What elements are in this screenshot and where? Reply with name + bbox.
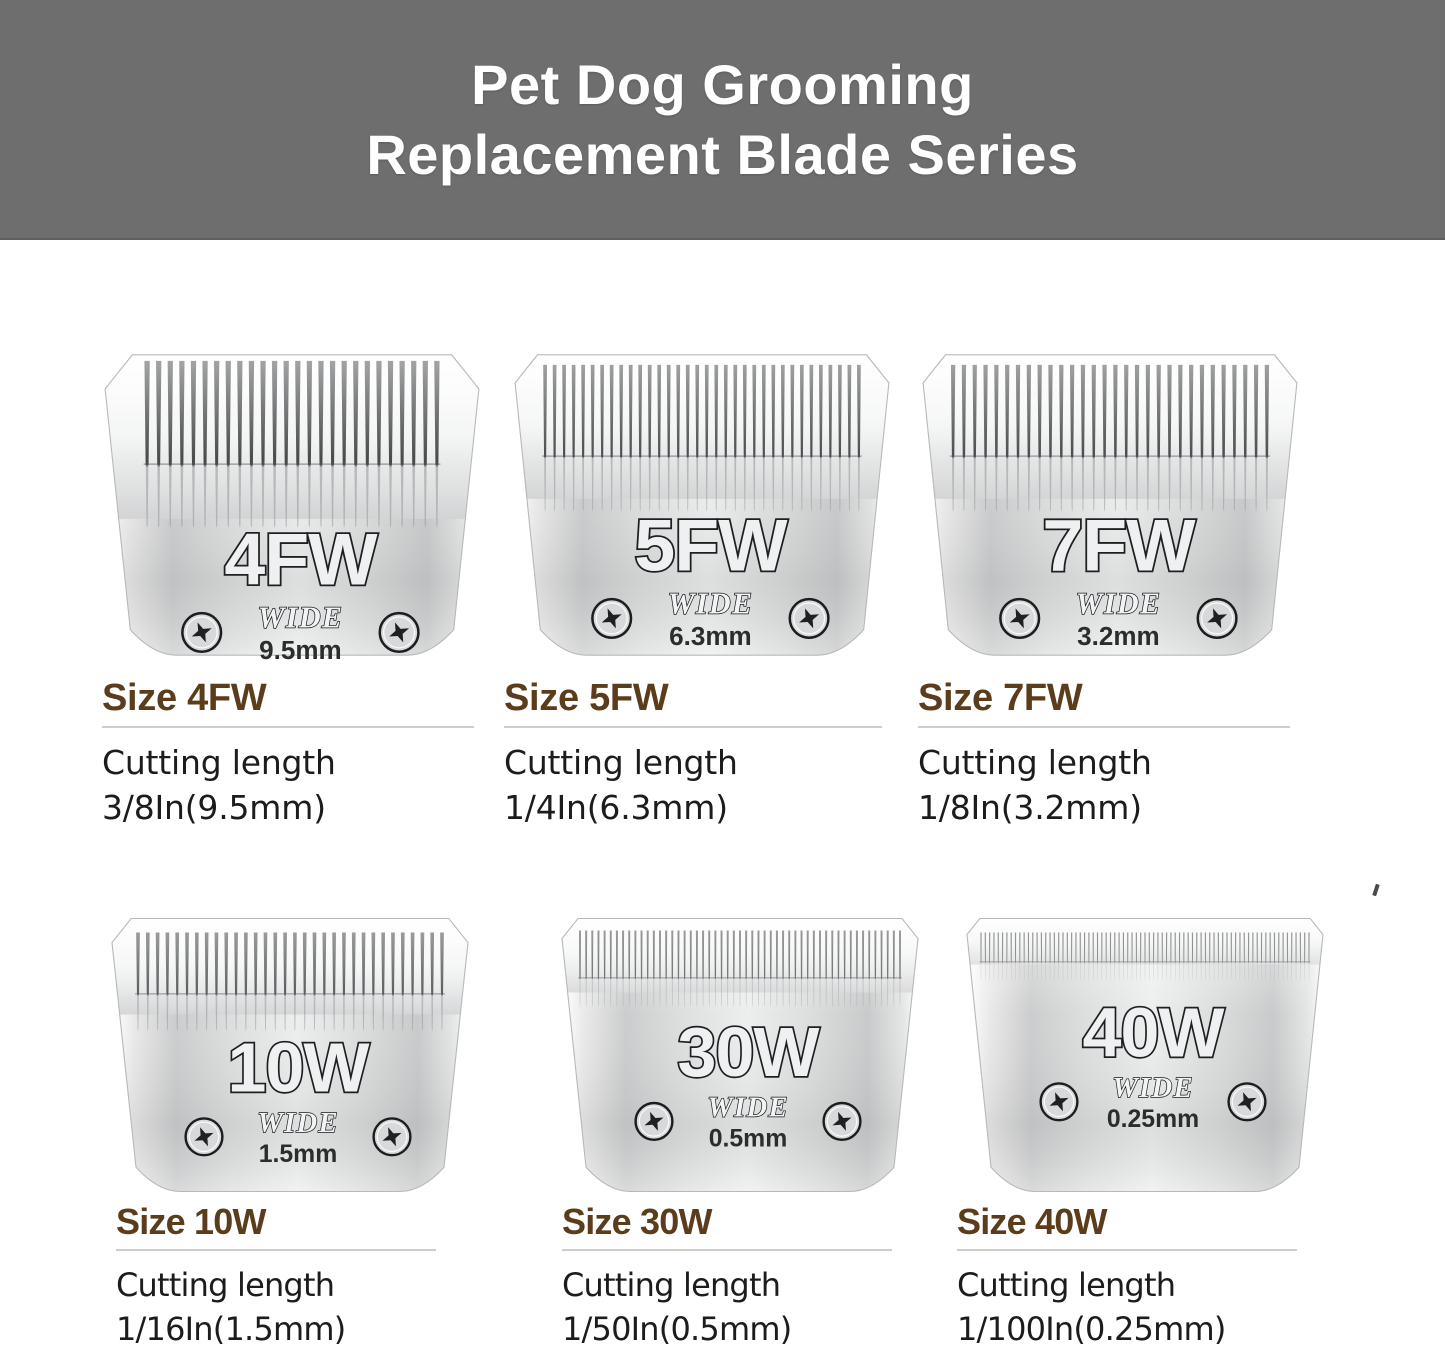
screw-icon [1041, 1083, 1078, 1120]
spec-divider [957, 1249, 1297, 1251]
blade-image-4fw: 4FWWIDE9.5mm [82, 340, 502, 670]
engraved-mm-text: 6.3mm [669, 621, 751, 651]
screw-icon [1198, 599, 1237, 638]
blade-card-10w: 10WWIDE1.5mm Size 10W Cutting length 1/1… [90, 905, 510, 1205]
blade-spec-line-1: Cutting length [918, 740, 1290, 785]
blade-spec-5fw: Size 5FW Cutting length 1/4In(6.3mm) [504, 676, 882, 830]
engraved-size-text: 30W [678, 1013, 820, 1091]
blade-card-30w: 30WWIDE0.5mm Size 30W Cutting length 1/5… [540, 905, 960, 1205]
engraved-wide-text: WIDE [707, 1092, 789, 1124]
blade-spec-title: Size 40W [957, 1201, 1297, 1243]
screw-icon [186, 1118, 223, 1155]
screw-icon [1000, 599, 1039, 638]
blade-spec-title: Size 5FW [504, 676, 882, 720]
blade-card-40w: 40WWIDE0.25mm Size 40W Cutting length 1/… [945, 905, 1365, 1205]
engraved-size-text: 5FW [634, 504, 788, 587]
engraved-size-text: 7FW [1042, 504, 1196, 587]
blade-spec-title: Size 30W [562, 1201, 892, 1243]
spec-divider [918, 726, 1290, 728]
blade-spec-10w: Size 10W Cutting length 1/16In(1.5mm) [116, 1201, 436, 1351]
header-banner: Pet Dog Grooming Replacement Blade Serie… [0, 0, 1445, 240]
blade-spec-line-2: 3/8In(9.5mm) [102, 785, 474, 830]
blade-spec-line-1: Cutting length [504, 740, 882, 785]
stray-artifact-mark [1372, 884, 1380, 897]
spec-divider [504, 726, 882, 728]
blade-spec-title: Size 4FW [102, 676, 474, 720]
blade-svg-4fw: 4FWWIDE9.5mm [82, 340, 502, 670]
engraved-wide-text: WIDE [1076, 586, 1161, 620]
spec-divider [102, 726, 474, 728]
blade-spec-title: Size 10W [116, 1201, 436, 1243]
page-title-line-1: Pet Dog Grooming [471, 50, 974, 120]
spec-divider [116, 1249, 436, 1251]
blade-spec-40w: Size 40W Cutting length 1/100In(0.25mm) [957, 1201, 1297, 1351]
engraved-wide-text: WIDE [668, 586, 753, 620]
blade-card-4fw: 4FWWIDE9.5mm Size 4FW Cutting length 3/8… [82, 340, 502, 670]
engraved-size-text: 10W [228, 1028, 370, 1106]
screw-icon [380, 613, 419, 652]
blade-image-30w: 30WWIDE0.5mm [540, 905, 960, 1205]
blade-spec-line-2: 1/100In(0.25mm) [957, 1307, 1297, 1351]
screw-icon [1229, 1083, 1266, 1120]
engraved-wide-text: WIDE [258, 600, 343, 634]
blade-spec-line-1: Cutting length [116, 1263, 436, 1307]
engraved-size-text: 40W [1083, 993, 1225, 1071]
blade-spec-4fw: Size 4FW Cutting length 3/8In(9.5mm) [102, 676, 474, 830]
engraved-wide-text: WIDE [1112, 1072, 1194, 1104]
screw-icon [374, 1118, 411, 1155]
engraved-size-text: 4FW [224, 518, 378, 601]
blade-svg-30w: 30WWIDE0.5mm [540, 905, 940, 1205]
engraved-wide-text: WIDE [257, 1107, 339, 1139]
blade-svg-10w: 10WWIDE1.5mm [90, 905, 490, 1205]
page-title-line-2: Replacement Blade Series [366, 120, 1078, 190]
blade-svg-7fw: 7FWWIDE3.2mm [900, 340, 1320, 670]
blade-spec-line-2: 1/50In(0.5mm) [562, 1307, 892, 1351]
spec-divider [562, 1249, 892, 1251]
screw-icon [824, 1103, 861, 1140]
screw-icon [790, 599, 829, 638]
blade-image-40w: 40WWIDE0.25mm [945, 905, 1365, 1205]
blade-spec-line-1: Cutting length [957, 1263, 1297, 1307]
engraved-mm-text: 0.5mm [709, 1126, 788, 1153]
blade-spec-line-1: Cutting length [562, 1263, 892, 1307]
blade-spec-title: Size 7FW [918, 676, 1290, 720]
blade-spec-line-2: 1/4In(6.3mm) [504, 785, 882, 830]
blade-image-7fw: 7FWWIDE3.2mm [900, 340, 1320, 670]
blade-spec-line-2: 1/16In(1.5mm) [116, 1307, 436, 1351]
engraved-mm-text: 9.5mm [259, 635, 341, 665]
blade-image-5fw: 5FWWIDE6.3mm [492, 340, 912, 670]
blade-spec-30w: Size 30W Cutting length 1/50In(0.5mm) [562, 1201, 892, 1351]
blade-image-10w: 10WWIDE1.5mm [90, 905, 510, 1205]
engraved-mm-text: 0.25mm [1107, 1106, 1199, 1133]
screw-icon [636, 1103, 673, 1140]
blade-svg-5fw: 5FWWIDE6.3mm [492, 340, 912, 670]
screw-icon [182, 613, 221, 652]
blade-spec-line-1: Cutting length [102, 740, 474, 785]
blade-card-5fw: 5FWWIDE6.3mm Size 5FW Cutting length 1/4… [492, 340, 912, 670]
screw-icon [592, 599, 631, 638]
blade-spec-7fw: Size 7FW Cutting length 1/8In(3.2mm) [918, 676, 1290, 830]
blade-card-7fw: 7FWWIDE3.2mm Size 7FW Cutting length 1/8… [900, 340, 1320, 670]
blade-spec-line-2: 1/8In(3.2mm) [918, 785, 1290, 830]
blade-svg-40w: 40WWIDE0.25mm [945, 905, 1345, 1205]
engraved-mm-text: 3.2mm [1077, 621, 1159, 651]
engraved-mm-text: 1.5mm [259, 1141, 338, 1168]
